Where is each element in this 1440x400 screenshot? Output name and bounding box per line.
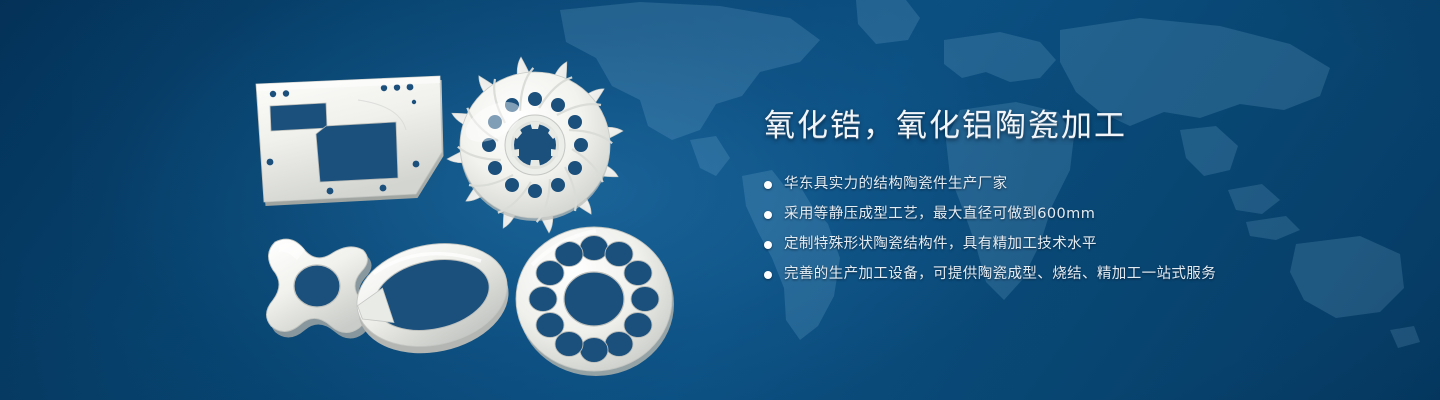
bullet-dot-icon [764, 181, 772, 189]
list-item: 定制特殊形状陶瓷结构件，具有精加工技术水平 [764, 234, 1384, 255]
ceramic-plate-part [250, 70, 450, 210]
banner-copy: 氧化锆，氧化铝陶瓷加工 华东具实力的结构陶瓷件生产厂家 采用等静压成型工艺，最大… [764, 104, 1384, 285]
list-item-label: 采用等静压成型工艺，最大直径可做到600mm [784, 204, 1095, 225]
bullet-dot-icon [764, 211, 772, 219]
list-item-label: 华东具实力的结构陶瓷件生产厂家 [784, 174, 1008, 195]
ceramic-impeller-part [440, 48, 630, 238]
bullet-dot-icon [764, 241, 772, 249]
list-item: 华东具实力的结构陶瓷件生产厂家 [764, 174, 1384, 195]
list-item: 完善的生产加工设备，可提供陶瓷成型、烧结、精加工一站式服务 [764, 264, 1384, 285]
bullet-dot-icon [764, 271, 772, 279]
feature-list: 华东具实力的结构陶瓷件生产厂家 采用等静压成型工艺，最大直径可做到600mm 定… [764, 174, 1384, 285]
list-item-label: 定制特殊形状陶瓷结构件，具有精加工技术水平 [784, 234, 1097, 255]
ceramic-disc-part [512, 222, 677, 377]
list-item-label: 完善的生产加工设备，可提供陶瓷成型、烧结、精加工一站式服务 [784, 264, 1216, 285]
list-item: 采用等静压成型工艺，最大直径可做到600mm [764, 204, 1384, 225]
page-title: 氧化锆，氧化铝陶瓷加工 [764, 104, 1384, 148]
ceramic-ring-part [345, 218, 520, 373]
hero-banner: 氧化锆，氧化铝陶瓷加工 华东具实力的结构陶瓷件生产厂家 采用等静压成型工艺，最大… [0, 0, 1440, 400]
